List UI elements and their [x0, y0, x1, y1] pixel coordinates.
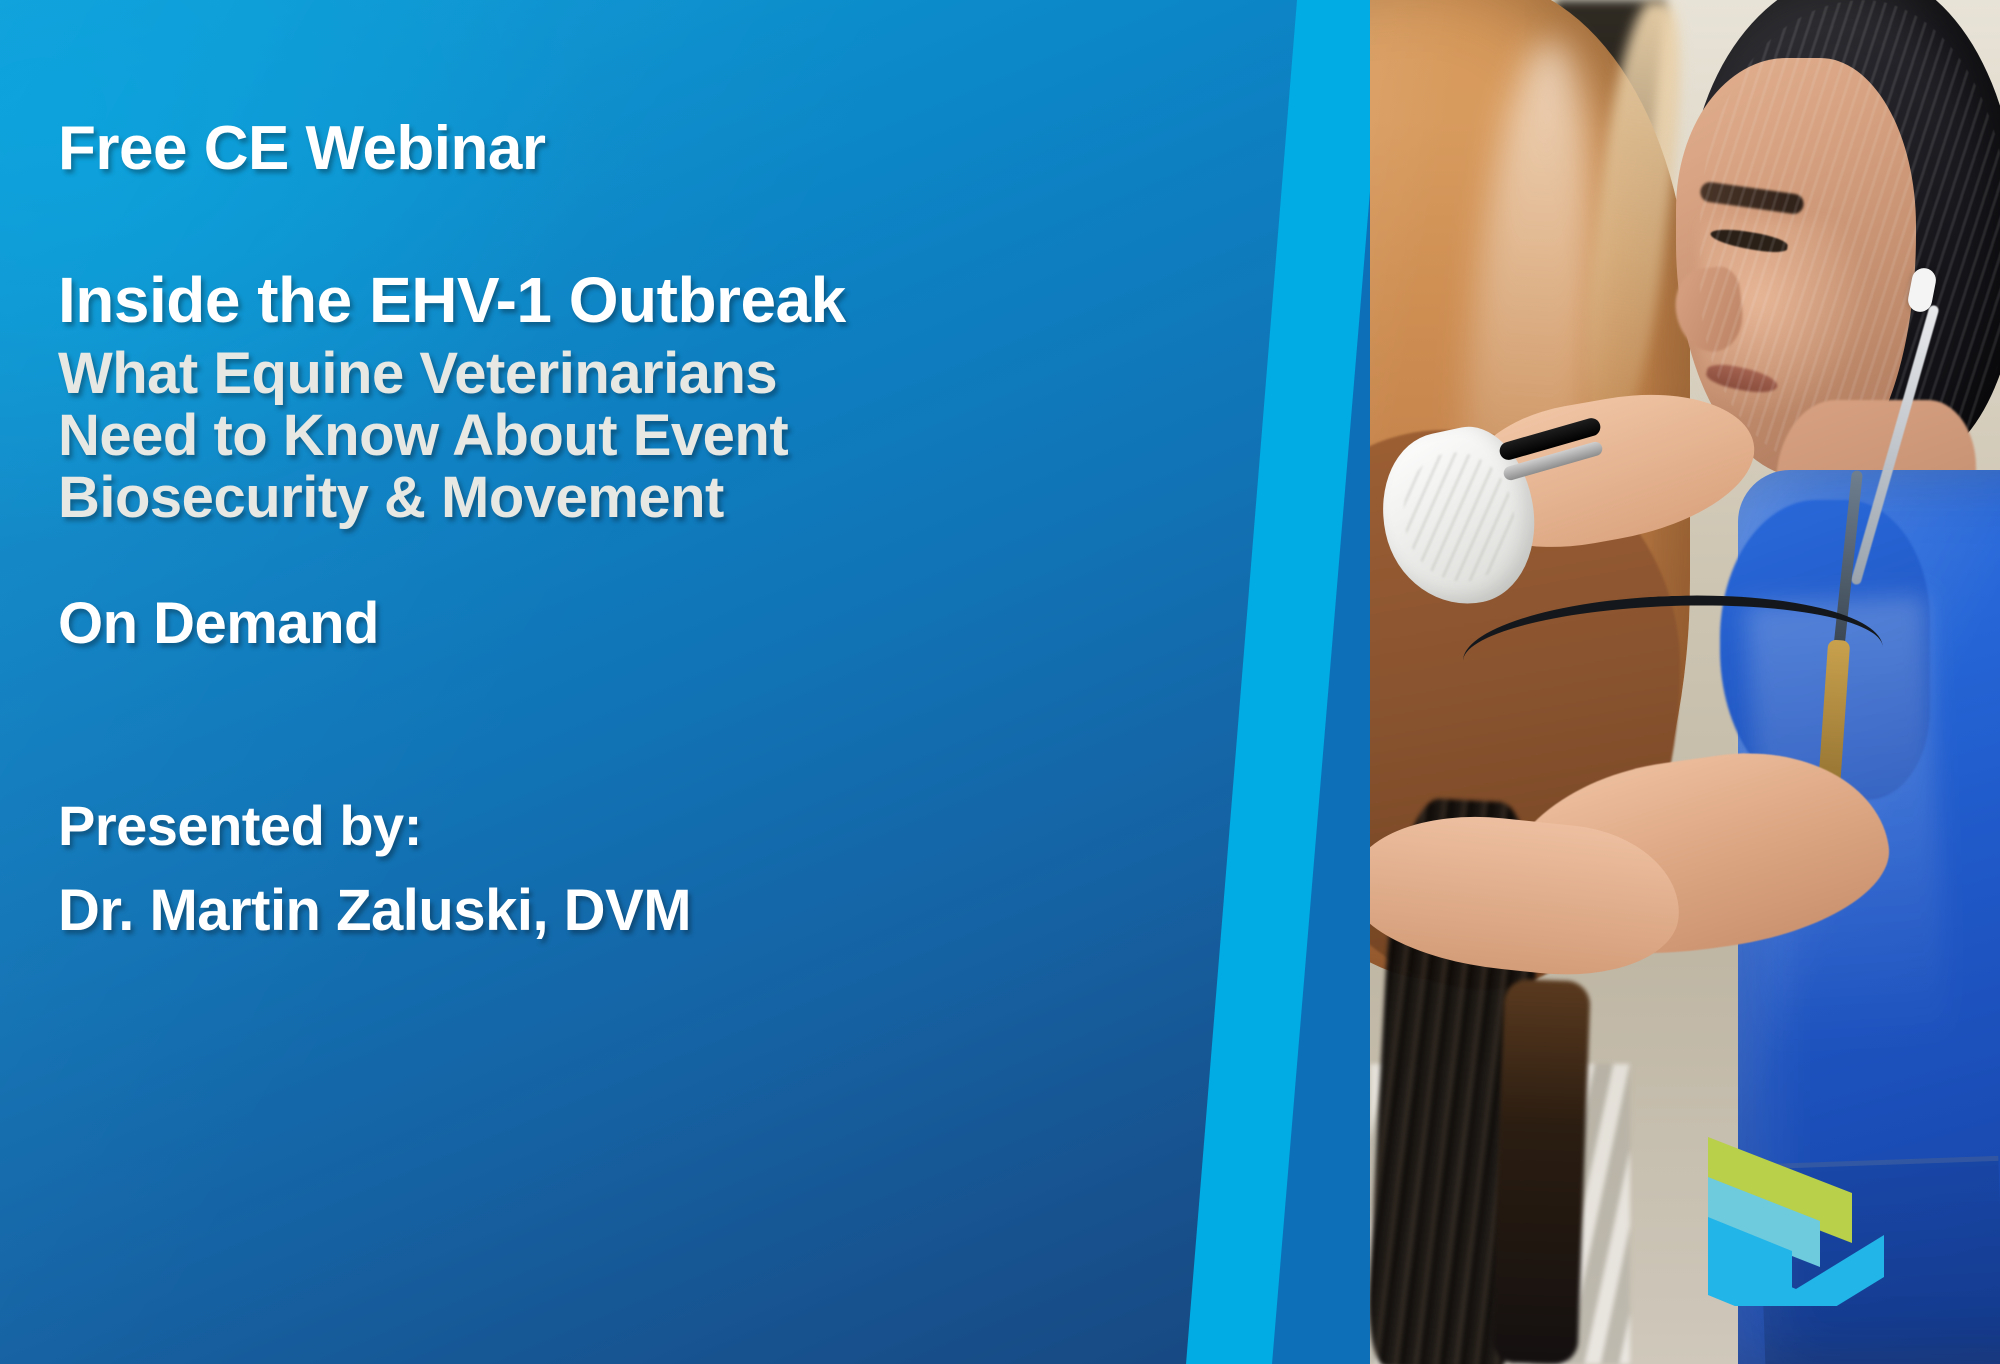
presenter-name: Dr. Martin Zaluski, DVM: [58, 882, 691, 940]
stacked-chevron-logo: [1700, 1131, 1888, 1306]
page-title: Inside the EHV-1 Outbreak: [58, 268, 846, 332]
photo-scene: [1370, 0, 2000, 1364]
logo-icon: [1700, 1131, 1888, 1306]
poster-text-block: Free CE Webinar Inside the EHV-1 Outbrea…: [58, 0, 1018, 1364]
veterinarian-horse-photo: [1370, 0, 2000, 1364]
webinar-promo-poster: Free CE Webinar Inside the EHV-1 Outbrea…: [0, 0, 2000, 1364]
availability-badge: On Demand: [58, 595, 379, 653]
webinar-kicker: Free CE Webinar: [58, 118, 546, 180]
presented-by-label: Presented by:: [58, 798, 422, 854]
webinar-subheadline: What Equine Veterinarians Need to Know A…: [58, 343, 788, 529]
horse-leg: [1491, 979, 1590, 1364]
